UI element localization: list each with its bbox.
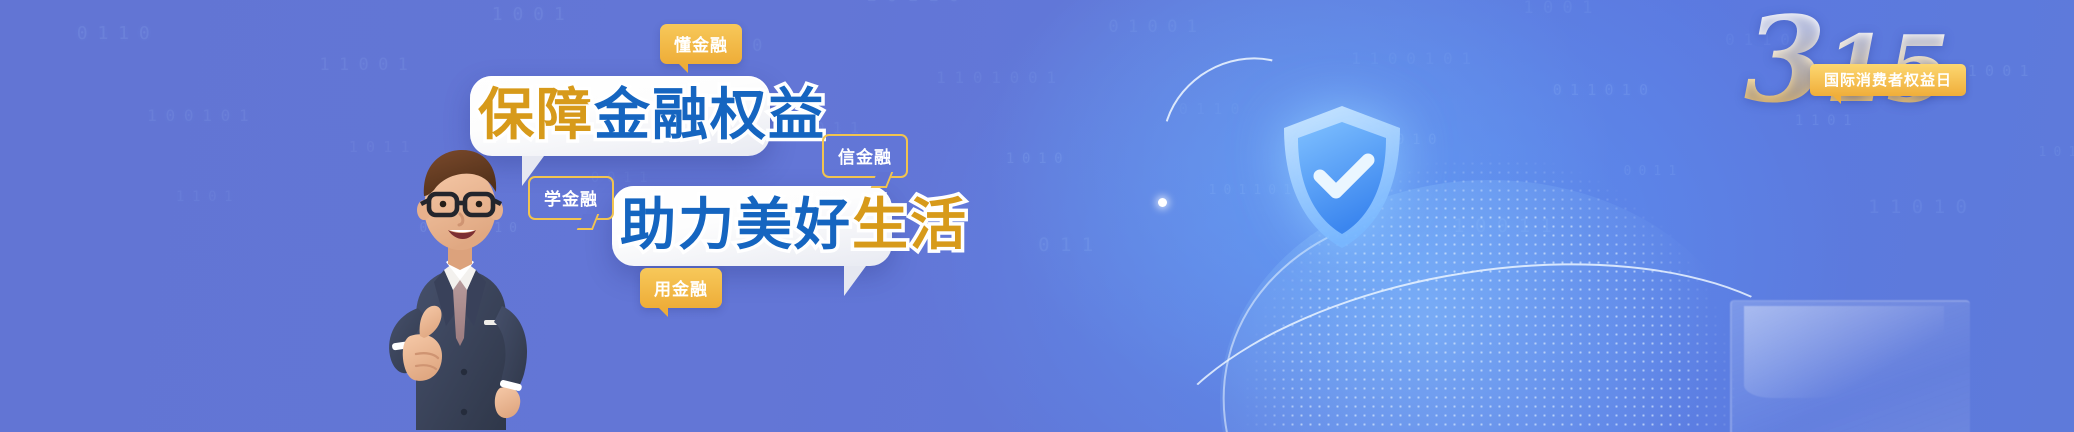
binary-column: 1 0 0 1 0: [1103, 17, 1201, 37]
binary-column: 1 0 0 1: [1518, 0, 1596, 18]
headline-1-seg-blue: 金融权益: [594, 84, 826, 148]
binary-column: 1 0 1 1: [172, 189, 236, 205]
swoosh-end-dot-icon: [1158, 198, 1167, 207]
logo-315-caption: 国际消费者权益日: [1810, 64, 1966, 96]
headline-line-2-text: 助力美好生活: [620, 194, 968, 258]
headline-2-seg-gold: 生活: [852, 194, 968, 258]
binary-column: 1 1 0: [1032, 234, 1098, 256]
binary-column: 1 0 0 1 1: [314, 55, 412, 75]
badge-yong-jinrong: 用金融: [640, 268, 722, 308]
binary-column: 0 1 1 0 1: [860, 0, 963, 6]
binary-column: 1 0 1 0 0 1 1: [1346, 49, 1475, 68]
shield-check-icon: [1276, 102, 1408, 252]
binary-column: 1 0 0 1: [486, 4, 569, 25]
binary-column: 0 1 0 1: [2034, 145, 2074, 160]
badge-dong-jinrong: 懂金融: [660, 24, 742, 64]
badge-xin-jinrong: 信金融: [822, 134, 908, 178]
headline-plate-2-tail: [844, 266, 866, 296]
logo-315: 315 国际消费者权益日: [1744, 2, 2034, 102]
binary-column: 1 0 0 1 0 1 1: [931, 68, 1060, 87]
headline-2-seg-blue: 助力美好: [620, 194, 852, 258]
binary-column: 1 0 1 0 0 1: [142, 106, 252, 125]
mascot-businessman-thumbs-up: [372, 130, 548, 432]
banner-315-financial-rights: 1 0 1 0 0 1 1 00 1 1 01 0 1 0 0 11 0 1 1…: [0, 0, 2074, 432]
binary-column: 0 1 0 1: [1002, 151, 1066, 167]
binary-column: 0 1 0 1 1 0: [1548, 81, 1652, 99]
binary-column: 0 1 0 1 1: [1862, 196, 1971, 218]
binary-column: 0 1 1 0: [71, 23, 154, 44]
